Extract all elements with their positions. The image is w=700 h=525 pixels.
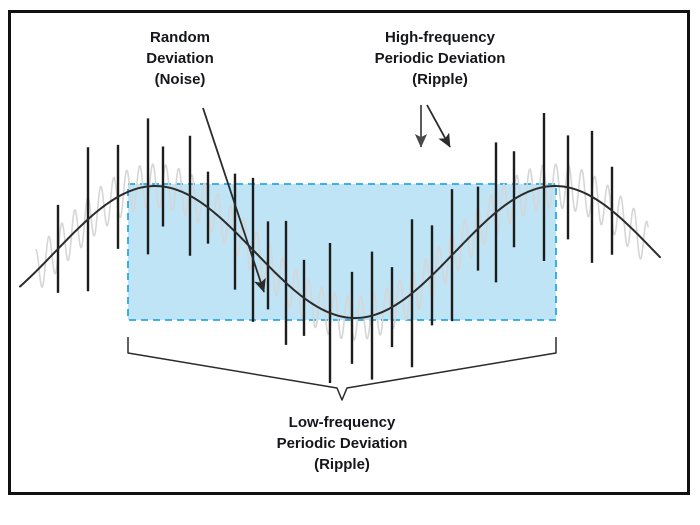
noise-label-line-2: Deviation [146, 50, 214, 67]
high-frequency-label-line-3: (Ripple) [412, 71, 468, 88]
diagram-stage: Random Deviation (Noise) High-frequency … [0, 0, 700, 525]
low-frequency-label: Low-frequency Periodic Deviation (Ripple… [277, 414, 408, 473]
high-frequency-label: High-frequency Periodic Deviation (Rippl… [375, 29, 506, 88]
high-frequency-label-line-2: Periodic Deviation [375, 50, 506, 67]
noise-label-line-3: (Noise) [155, 71, 206, 88]
noise-label-line-1: Random [150, 29, 210, 46]
low-frequency-brace [128, 337, 556, 400]
signal-deviation-diagram: Random Deviation (Noise) High-frequency … [0, 0, 700, 525]
high-frequency-label-line-1: High-frequency [385, 29, 496, 46]
highlight-region-box [128, 184, 556, 320]
ripple-callout-arrow-right [427, 105, 450, 147]
low-frequency-label-line-3: (Ripple) [314, 456, 370, 473]
low-frequency-label-line-1: Low-frequency [289, 414, 396, 431]
low-frequency-label-line-2: Periodic Deviation [277, 435, 408, 452]
noise-label: Random Deviation (Noise) [146, 29, 214, 88]
